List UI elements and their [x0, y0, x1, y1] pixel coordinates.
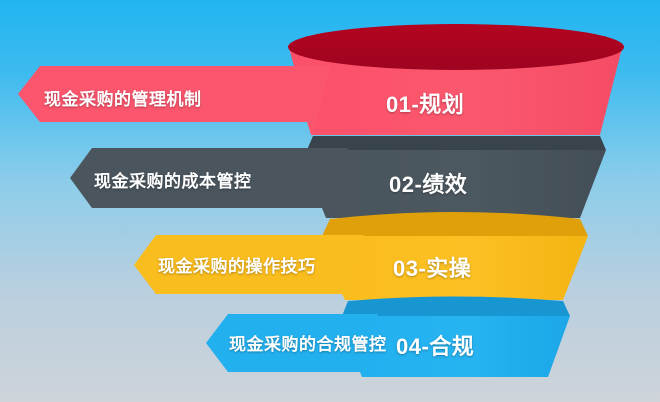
funnel-stage-3-body: [322, 236, 588, 300]
funnel-stage-2-body: [307, 150, 606, 218]
funnel-stage-4-bevel: [342, 297, 570, 317]
funnel-stage-3[interactable]: [322, 212, 588, 300]
banner-arrow-3[interactable]: [134, 235, 364, 300]
funnel-diagram-canvas: 01-规划 02-绩效 03-实操 04-合规 现金采购的管理机制 现金采购的成…: [0, 0, 660, 402]
funnel-stage-1[interactable]: [288, 24, 624, 135]
banner-arrow-1[interactable]: [18, 66, 330, 135]
funnel-stage-2[interactable]: [307, 136, 606, 218]
banner-arrow-2[interactable]: [70, 148, 348, 218]
funnel-stage-2-bevel: [307, 136, 606, 150]
funnel-stage-4-body: [342, 316, 570, 377]
funnel-graphic: [0, 0, 660, 402]
banner-arrow-4[interactable]: [206, 314, 378, 377]
funnel-stage-1-top-ellipse: [288, 24, 624, 70]
funnel-stage-4[interactable]: [342, 297, 570, 378]
